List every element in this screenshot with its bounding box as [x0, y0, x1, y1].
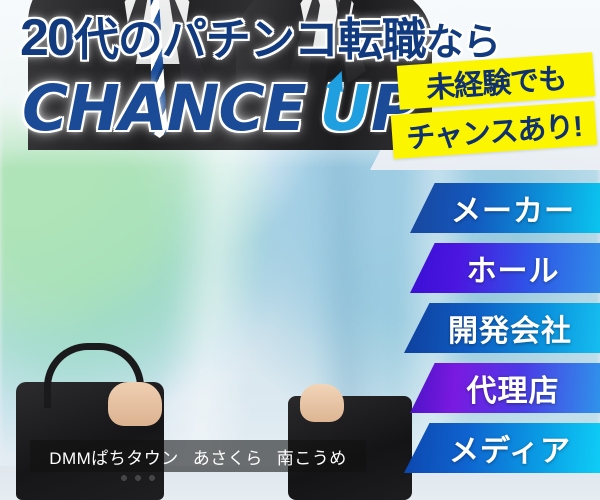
- category-button-development-company[interactable]: 開発会社: [404, 303, 600, 353]
- category-button-hall[interactable]: ホール: [410, 243, 600, 293]
- male-hand: [108, 382, 162, 426]
- logo-chance-up: CHANCE UP: [22, 72, 417, 145]
- credit-name-2: 南こうめ: [277, 449, 347, 468]
- category-label-maker: メーカー: [435, 186, 575, 230]
- female-hand: [300, 384, 344, 422]
- credit-bar: DMMぱちタウンあさくら南こうめ: [30, 440, 366, 472]
- category-label-media: メディア: [433, 426, 571, 470]
- category-label-agency: 代理店: [451, 366, 560, 410]
- headline-age-number: 20: [20, 9, 74, 67]
- category-button-maker[interactable]: メーカー: [410, 183, 600, 233]
- category-button-list: メーカー ホール 開発会社 代理店 メディア: [400, 183, 600, 483]
- headline-line-1: 20代のパチンコ転職なら: [20, 12, 420, 64]
- headline-line-1-main: 代のパチンコ転職: [74, 14, 426, 65]
- logo-word-chance: CHANCE: [22, 72, 306, 145]
- headline-block: 20代のパチンコ転職なら: [20, 12, 420, 64]
- category-label-development-company: 開発会社: [432, 306, 572, 350]
- credit-text: DMMぱちタウンあさくら南こうめ: [49, 444, 347, 469]
- recruitment-banner[interactable]: 20代のパチンコ転職なら CHANCE UP 未経験でも チャンスあり! メーカ…: [0, 0, 600, 500]
- category-label-hall: ホール: [451, 246, 560, 290]
- headline-line-1-tail: なら: [426, 22, 500, 64]
- credit-site-name: DMMぱちタウン: [49, 449, 179, 468]
- category-button-agency[interactable]: 代理店: [410, 363, 600, 413]
- credit-name-1: あさくら: [193, 449, 263, 468]
- briefcase-studs: [118, 474, 158, 482]
- category-button-media[interactable]: メディア: [404, 423, 600, 473]
- badge-no-experience-label: 未経験でも: [425, 55, 568, 107]
